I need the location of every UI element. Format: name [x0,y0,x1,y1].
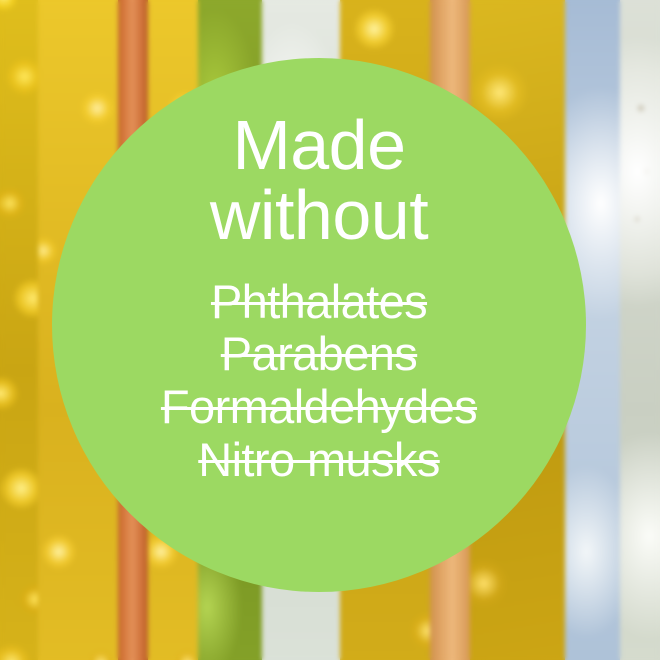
headline-line-2: without [210,182,428,250]
made-without-circle-badge: Made without Phthalates Parabens Formald… [52,58,586,592]
strip-texture [620,0,660,660]
badge-image-canvas: Made without Phthalates Parabens Formald… [0,0,660,660]
background-strip-blossom-white-petals [620,0,660,660]
strip-texture [0,0,38,660]
claim-item-formaldehydes: Formaldehydes [161,381,477,434]
claim-item-phthalates: Phthalates [161,276,477,329]
excluded-ingredients-list: Phthalates Parabens Formaldehydes Nitro … [161,276,477,487]
claim-item-parabens: Parabens [161,328,477,381]
claim-item-nitro-musks: Nitro musks [161,434,477,487]
headline-line-1: Made [210,112,428,180]
badge-headline: Made without [210,112,428,250]
background-strip-mimosa-bright-yellow [0,0,38,660]
